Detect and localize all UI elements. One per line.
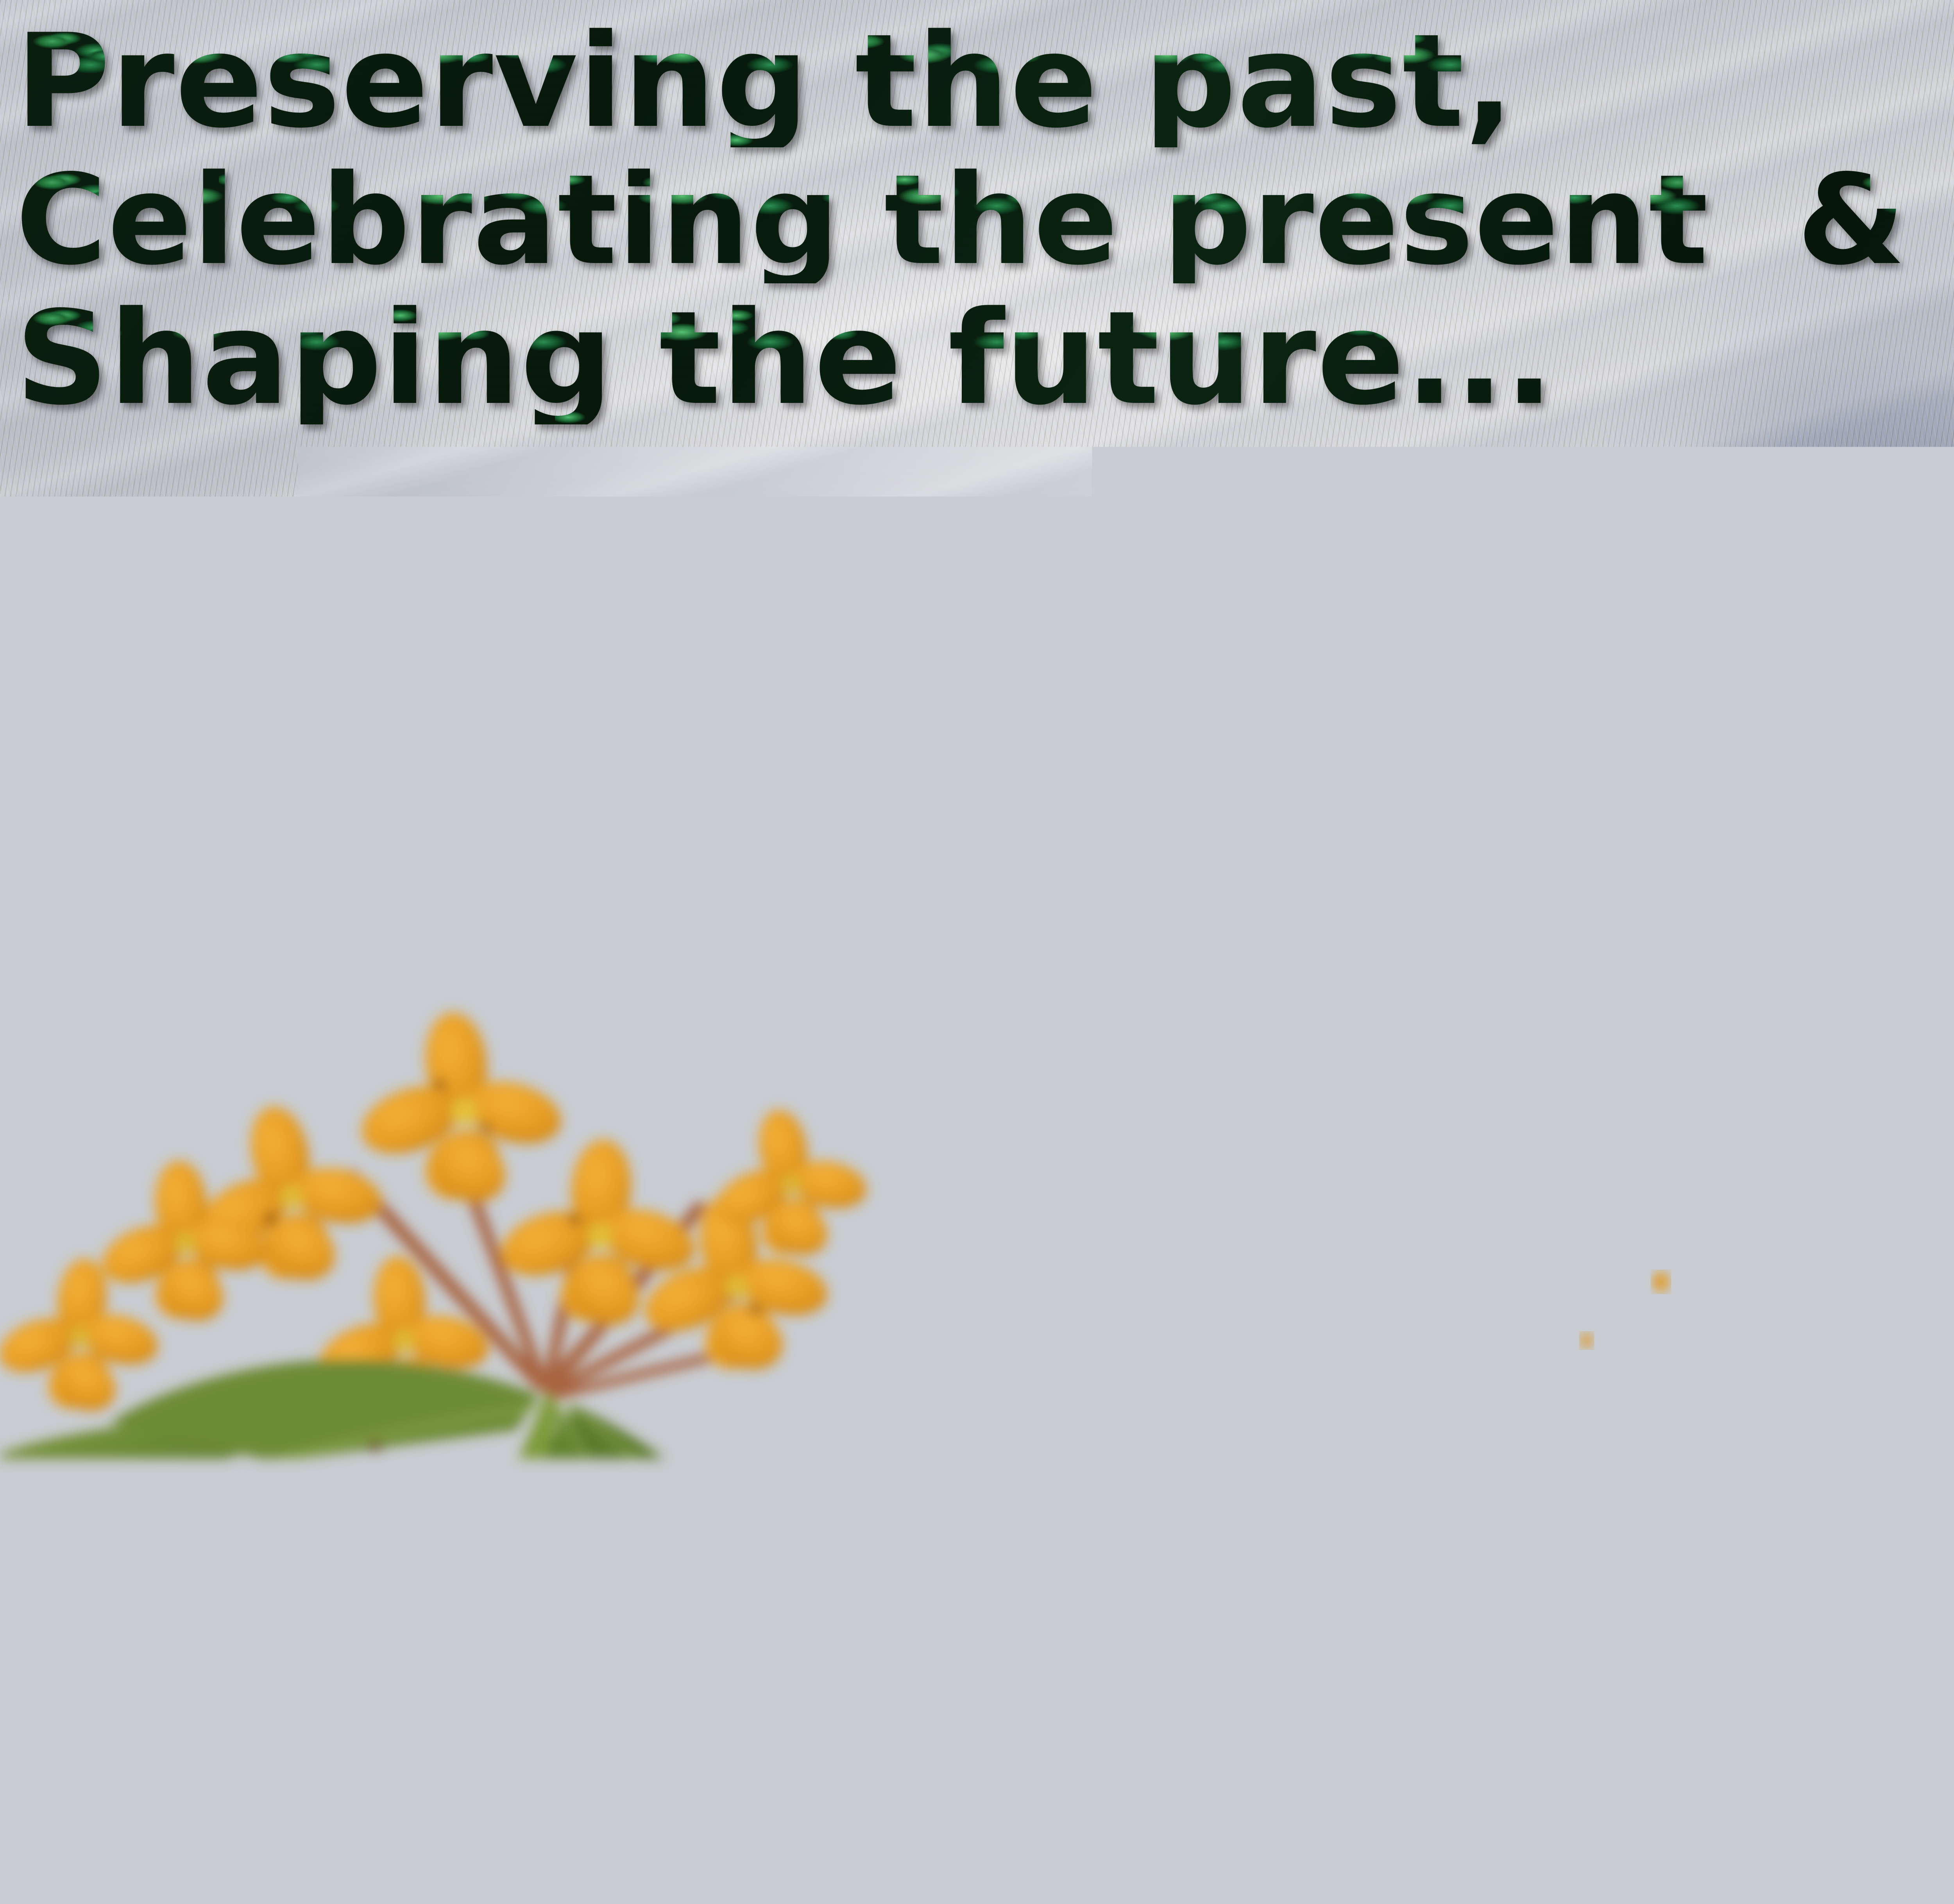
poster-canvas: Preserving the past, Celebrating the pre… [0,0,1954,1904]
quote-line-2: Celebrating the present & [16,157,1954,283]
watermark-handle: @trek_papua [571,1472,1055,1548]
quote-line-3: Shaping the future... [16,293,1954,424]
quote-text-block: Preserving the past, Celebrating the pre… [16,16,1954,434]
quote-line-1: Preserving the past, [16,16,1954,147]
